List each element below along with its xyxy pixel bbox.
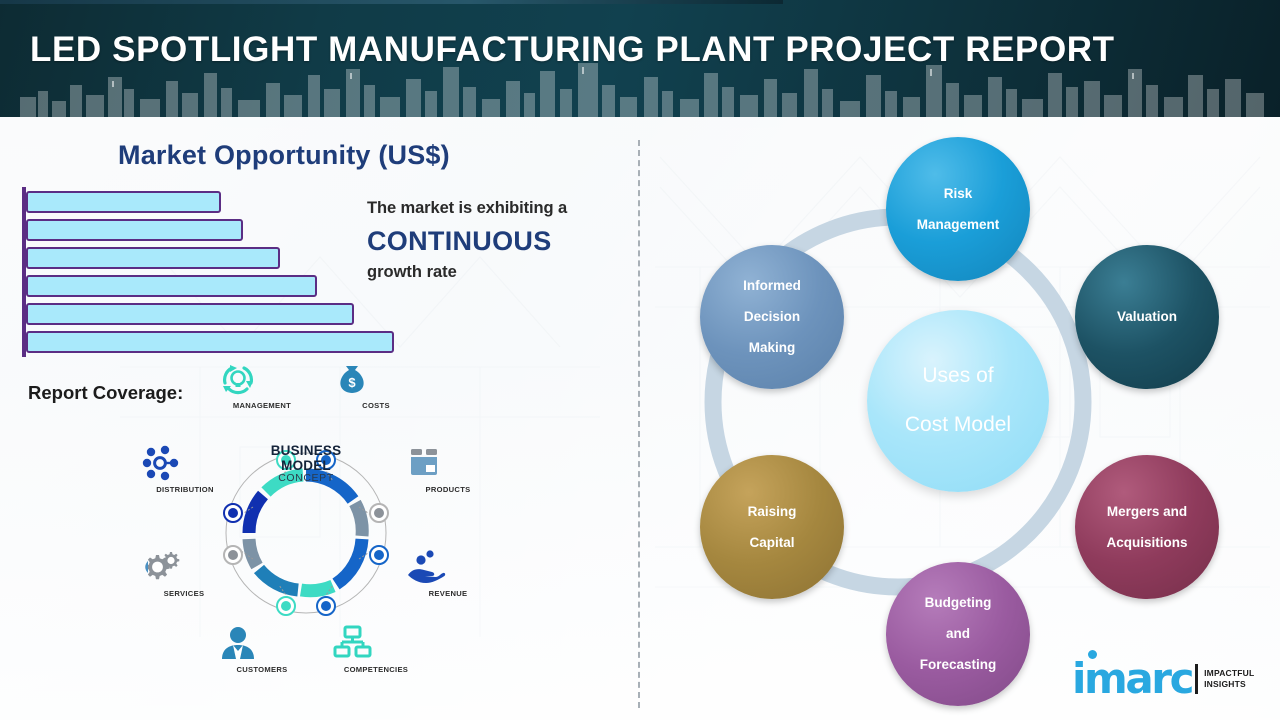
coverage-item-revenue: REVENUE	[402, 547, 494, 598]
valuation-label: Valuation	[1111, 309, 1183, 325]
coverage-item-customers: CUSTOMERS	[216, 623, 308, 674]
imarc-wordmark: imarc	[1072, 662, 1192, 696]
coverage-label-customers: CUSTOMERS	[216, 665, 308, 674]
coverage-label-management: MANAGEMENT	[216, 401, 308, 410]
left-panel: Market Opportunity (US$) The market is e…	[0, 117, 638, 720]
business-model-center-label: BUSINESS MODEL CONCEPT	[216, 443, 396, 485]
business-model-line-3: CONCEPT	[216, 473, 396, 485]
market-opportunity-title: Market Opportunity (US$)	[118, 140, 450, 171]
informed-decision-line-1: Informed	[737, 278, 807, 294]
bar-row	[26, 275, 317, 297]
page-title: LED SPOTLIGHT MANUFACTURING PLANT PROJEC…	[30, 30, 1115, 70]
bar-row	[26, 331, 394, 353]
slide-root: LED SPOTLIGHT MANUFACTURING PLANT PROJEC…	[0, 0, 1280, 720]
header-top-strip	[0, 0, 783, 4]
hand-coins-icon	[402, 547, 446, 587]
org-chart-icon	[330, 623, 374, 663]
coverage-item-services: SERVICES	[138, 547, 230, 598]
raising-capital-line-2: Capital	[742, 535, 803, 551]
mergers-line-2: Acquisitions	[1100, 535, 1193, 551]
network-nodes-icon	[139, 443, 183, 483]
imarc-logo-divider	[1195, 664, 1198, 694]
node-budgeting-and-forecasting[interactable]: Budgeting and Forecasting	[886, 562, 1030, 706]
node-mergers-and-acquisitions[interactable]: Mergers and Acquisitions	[1075, 455, 1219, 599]
bar-row	[26, 303, 354, 325]
coverage-item-distribution: DISTRIBUTION	[139, 443, 231, 494]
growth-note-emphasis: CONTINUOUS	[367, 226, 627, 257]
imarc-logo-dot	[1088, 650, 1097, 659]
bar-row	[26, 191, 221, 213]
node-informed-decision-making[interactable]: Informed Decision Making	[700, 245, 844, 389]
coverage-item-costs: $ COSTS	[330, 359, 422, 410]
imarc-tagline-line-1: IMPACTFUL	[1204, 668, 1254, 679]
coverage-label-costs: COSTS	[330, 401, 422, 410]
slide-header: LED SPOTLIGHT MANUFACTURING PLANT PROJEC…	[0, 0, 1280, 117]
coverage-item-management: MANAGEMENT	[216, 359, 308, 410]
gears-icon	[138, 547, 182, 587]
svg-text:$: $	[348, 375, 356, 390]
coverage-label-distribution: DISTRIBUTION	[139, 485, 231, 494]
coverage-label-competencies: COMPETENCIES	[330, 665, 422, 674]
coverage-label-products: PRODUCTS	[402, 485, 494, 494]
coverage-item-competencies: COMPETENCIES	[330, 623, 422, 674]
money-bag-icon: $	[330, 359, 374, 399]
growth-note-line-1: The market is exhibiting a	[367, 199, 627, 218]
raising-capital-line-1: Raising	[742, 504, 803, 520]
risk-management-line-1: Risk	[911, 186, 1006, 202]
mergers-line-1: Mergers and	[1100, 504, 1193, 520]
chart-y-axis	[22, 187, 26, 357]
coverage-label-services: SERVICES	[138, 589, 230, 598]
center-node-line-1: Uses of	[899, 364, 1017, 388]
coverage-item-products: PRODUCTS	[402, 443, 494, 494]
node-valuation[interactable]: Valuation	[1075, 245, 1219, 389]
node-raising-capital[interactable]: Raising Capital	[700, 455, 844, 599]
business-model-line-1: BUSINESS	[216, 443, 396, 458]
informed-decision-line-3: Making	[737, 340, 807, 356]
node-risk-management[interactable]: Risk Management	[886, 137, 1030, 281]
recycle-bulb-icon	[216, 359, 260, 399]
imarc-logo[interactable]: imarc IMPACTFUL INSIGHTS	[1072, 662, 1254, 696]
budgeting-line-2: and	[914, 626, 1003, 642]
business-model-diagram: BUSINESS MODEL CONCEPT MANAGEME	[140, 365, 500, 695]
informed-decision-line-2: Decision	[737, 309, 807, 325]
right-panel: Uses of Cost Model Risk Management Valua…	[638, 117, 1280, 720]
growth-note-line-3: growth rate	[367, 263, 627, 282]
open-box-icon	[402, 443, 446, 483]
node-uses-of-cost-model[interactable]: Uses of Cost Model	[867, 310, 1049, 492]
business-model-line-2: MODEL	[216, 458, 396, 473]
bar-row	[26, 219, 243, 241]
budgeting-line-1: Budgeting	[914, 595, 1003, 611]
market-growth-note: The market is exhibiting a CONTINUOUS gr…	[367, 199, 627, 282]
imarc-tagline: IMPACTFUL INSIGHTS	[1204, 668, 1254, 689]
market-opportunity-bar-chart	[22, 187, 422, 357]
center-node-line-2: Cost Model	[899, 413, 1017, 437]
imarc-tagline-line-2: INSIGHTS	[1204, 679, 1254, 690]
risk-management-line-2: Management	[911, 217, 1006, 233]
coverage-label-revenue: REVENUE	[402, 589, 494, 598]
budgeting-line-3: Forecasting	[914, 657, 1003, 673]
person-icon	[216, 623, 260, 663]
bar-row	[26, 247, 280, 269]
